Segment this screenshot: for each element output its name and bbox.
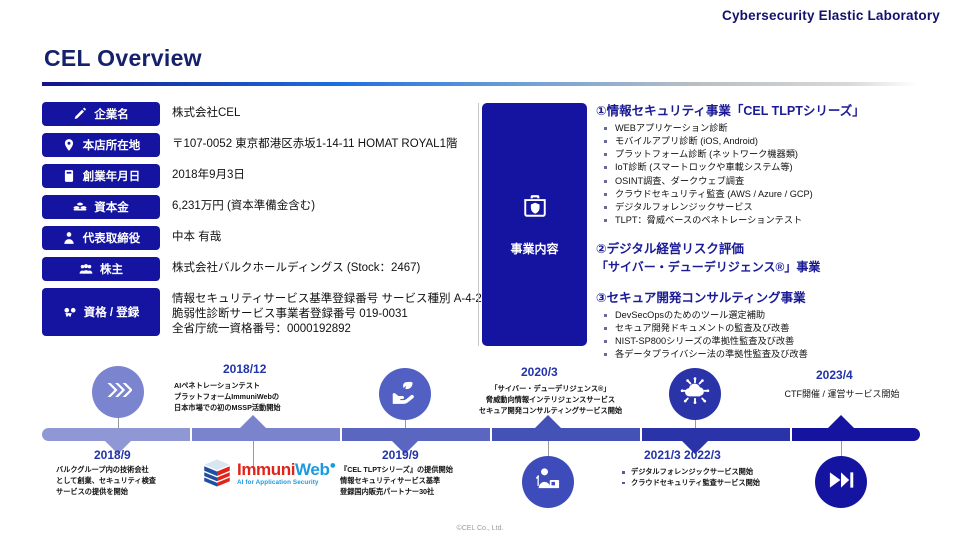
info-value-line: 中本 有哉 [172,230,221,245]
business-items-1: WEBアプリケーション診断 モバイルアプリ診断 (iOS, Android) プ… [602,122,948,227]
timeline-text-line: サービスの提供を開始 [56,487,196,498]
timeline-segment-6 [792,428,920,441]
list-item: デジタルフォレンジックサービス開始 [622,467,797,478]
cloud-network-icon [680,377,710,412]
company-timeline: 2018/9 バルクグループ内の技術会社 として創業、セキュリティ検査 サービス… [0,352,960,540]
info-value-line: 情報セキュリティサービス基準登録番号 サービス種別 A-4-2 [172,292,482,307]
immuniweb-name-blue: Web [295,460,329,479]
info-value-shareholder: 株式会社バルクホールディングス (Stock：2467) [160,257,420,276]
info-label-text: 本店所在地 [83,137,141,153]
timeline-segment-4 [492,428,640,441]
timeline-text-line: 登録国内販売パートナー30社 [340,487,505,498]
info-label-capital: 資本金 [42,195,160,219]
timeline-text-line: 「サイバー・デューデリジェンス®」 [458,384,643,395]
timeline-text-line: として創業、セキュリティ検査 [56,476,196,487]
business-heading-3: ③セキュア開発コンサルティング事業 [596,290,948,306]
vertical-divider [478,103,479,346]
info-value-line: 6,231万円 (資本準備金含む) [172,199,315,214]
timeline-segment-2 [192,428,340,441]
info-label-text: 株主 [100,261,123,277]
info-label-founded: 創業年月日 [42,164,160,188]
table-row: 資格 / 登録 情報セキュリティサービス基準登録番号 サービス種別 A-4-2 … [42,288,472,338]
timeline-date-2021-2022: 2021/3 2022/3 [644,448,721,462]
immuniweb-tagline: AI for Application Security [237,480,336,486]
location-pin-icon [62,138,76,152]
business-panel-label: 事業内容 [510,240,558,257]
timeline-segment-5 [642,428,790,441]
timeline-date-2019-09: 2019/9 [382,448,419,462]
list-item: セキュア開発ドキュメントの監査及び改善 [602,322,948,335]
info-value-company-name: 株式会社CEL [160,102,240,121]
timeline-text-line: AIペネトレーションテスト [174,381,344,392]
timeline-date-2023-04: 2023/4 [816,368,853,382]
list-item: TLPT：脅威ベースのペネトレーションテスト [602,214,948,227]
timeline-text-line: 『CEL TLPTシリーズ』の提供開始 [340,465,505,476]
info-value-address: 〒107-0052 東京都港区赤坂1-14-11 HOMAT ROYAL1階 [160,133,457,152]
list-item: クラウドセキュリティ監査 (AWS / Azure / GCP) [602,188,948,201]
user-tie-icon [62,231,76,245]
immuniweb-logo: ImmuniWeb● AI for Application Security [202,458,336,488]
timeline-text-2023-04: CTF開催 / 運営サービス開始 [742,388,942,402]
table-row: 資本金 6,231万円 (資本準備金含む) [42,195,472,219]
table-row: 本店所在地 〒107-0052 東京都港区赤坂1-14-11 HOMAT ROY… [42,133,472,157]
timeline-arrow-up-2 [535,415,561,428]
info-label-text: 資本金 [94,199,129,215]
info-label-text: 創業年月日 [83,168,141,184]
business-content-list: ①情報セキュリティ事業「CEL TLPTシリーズ」 WEBアプリケーション診断 … [596,103,948,361]
pencil-icon [73,107,87,121]
timeline-text-line: バルクグループ内の技術会社 [56,465,196,476]
presenter-icon [534,466,562,499]
immuniweb-name-red: Immuni [237,460,295,479]
business-heading-2: ②デジタル経営リスク評価 [596,241,948,257]
info-value-line: 〒107-0052 東京都港区赤坂1-14-11 HOMAT ROYAL1階 [172,137,457,152]
coins-icon [73,200,87,214]
timeline-date-2018-12: 2018/12 [223,362,266,376]
info-label-text: 企業名 [94,106,129,122]
calendar-icon [62,169,76,183]
timeline-arrow-up-3 [828,415,854,428]
table-row: 株主 株式会社バルクホールディングス (Stock：2467) [42,257,472,281]
list-item: モバイルアプリ診断 (iOS, Android) [602,135,948,148]
info-label-text: 代表取締役 [83,230,141,246]
immuniweb-wordmark: ImmuniWeb● AI for Application Security [237,460,336,486]
info-label-shareholder: 株主 [42,257,160,281]
info-value-line: 株式会社CEL [172,106,240,121]
timeline-text-line: セキュア開発コンサルティングサービス開始 [458,406,643,417]
chevrons-right-icon [104,376,132,409]
certificate-icon [63,305,77,319]
briefcase-shield-icon [522,193,548,224]
immuniweb-name: ImmuniWeb● [237,460,336,479]
title-divider-rule [42,82,918,86]
brand-title: Cybersecurity Elastic Laboratory [722,8,940,23]
info-label-certification: 資格 / 登録 [42,288,160,336]
info-value-ceo: 中本 有哉 [160,226,221,245]
info-value-line: 2018年9月3日 [172,168,245,183]
list-item: IoT診断 (スマートロックや車載システム等) [602,161,948,174]
timeline-text-line: 情報セキュリティサービス基準 [340,476,505,487]
list-item: NIST-SP800シリーズの準拠性監査及び改善 [602,335,948,348]
timeline-icon-circle-2019-09 [379,368,431,420]
timeline-text-line: 日本市場での初のMSSP活動開始 [174,403,344,414]
info-value-founded: 2018年9月3日 [160,164,245,183]
info-label-text: 資格 / 登録 [84,304,140,320]
table-row: 創業年月日 2018年9月3日 [42,164,472,188]
info-label-address: 本店所在地 [42,133,160,157]
timeline-text-line: 脅威動向情報インテリジェンスサービス [458,395,643,406]
list-item: プラットフォーム診断 (ネットワーク機器類) [602,148,948,161]
business-content-panel: 事業内容 [482,103,587,346]
timeline-date-2018-09: 2018/9 [94,448,131,462]
info-value-line: 脆弱性診断サービス事業者登録番号 019-0031 [172,307,482,322]
timeline-icon-circle-2023-04 [815,456,867,508]
timeline-bullets-2021-2022: デジタルフォレンジックサービス開始 クラウドセキュリティ監査サービス開始 [622,467,797,489]
timeline-text-2019-09: 『CEL TLPTシリーズ』の提供開始 情報セキュリティサービス基準 登録国内販… [340,465,505,497]
info-value-line: 株式会社バルクホールディングス (Stock：2467) [172,261,420,276]
immuniweb-mark-icon [202,458,232,488]
table-row: 代表取締役 中本 有哉 [42,226,472,250]
table-row: 企業名 株式会社CEL [42,102,472,126]
timeline-date-2020-03: 2020/3 [521,365,558,379]
list-item: DevSecOpsのためのツール選定補助 [602,309,948,322]
page-title: CEL Overview [44,45,202,72]
timeline-icon-circle-2018-09 [92,366,144,418]
hand-sprout-icon [391,378,419,411]
info-value-line: 全省庁統一資格番号：0000192892 [172,322,482,337]
list-item: WEBアプリケーション診断 [602,122,948,135]
info-value-capital: 6,231万円 (資本準備金含む) [160,195,315,214]
info-value-certification: 情報セキュリティサービス基準登録番号 サービス種別 A-4-2 脆弱性診断サービ… [160,288,482,338]
immuniweb-dot-icon: ● [329,459,335,471]
timeline-bar [42,428,920,441]
users-icon [79,262,93,276]
list-item: クラウドセキュリティ監査サービス開始 [622,478,797,489]
timeline-text-line: プラットフォームImmuniWebの [174,392,344,403]
company-info-table: 企業名 株式会社CEL 本店所在地 〒107-0052 東京都港区赤坂1-14-… [42,102,472,345]
slide-root: Cybersecurity Elastic Laboratory CEL Ove… [0,0,960,540]
fast-forward-icon [827,466,855,499]
list-item: デジタルフォレンジックサービス [602,201,948,214]
timeline-arrow-up-1 [240,415,266,428]
timeline-icon-circle-2020-03 [522,456,574,508]
timeline-icon-circle-2021-2022 [669,368,721,420]
list-item: OSINT調査、ダークウェブ調査 [602,175,948,188]
info-label-ceo: 代表取締役 [42,226,160,250]
timeline-text-2018-12: AIペネトレーションテスト プラットフォームImmuniWebの 日本市場での初… [174,381,344,413]
timeline-segment-1 [42,428,190,441]
timeline-text-2018-09: バルクグループ内の技術会社 として創業、セキュリティ検査 サービスの提供を開始 [56,465,196,497]
timeline-segment-3 [342,428,490,441]
business-subheading-2: 「サイバー・デューデリジェンス®」事業 [596,260,948,276]
footer-copyright: ©CEL Co., Ltd. [0,525,960,532]
info-label-company-name: 企業名 [42,102,160,126]
business-heading-1: ①情報セキュリティ事業「CEL TLPTシリーズ」 [596,103,948,119]
timeline-text-2020-03: 「サイバー・デューデリジェンス®」 脅威動向情報インテリジェンスサービス セキュ… [458,384,643,416]
timeline-text-line: CTF開催 / 運営サービス開始 [742,388,942,402]
